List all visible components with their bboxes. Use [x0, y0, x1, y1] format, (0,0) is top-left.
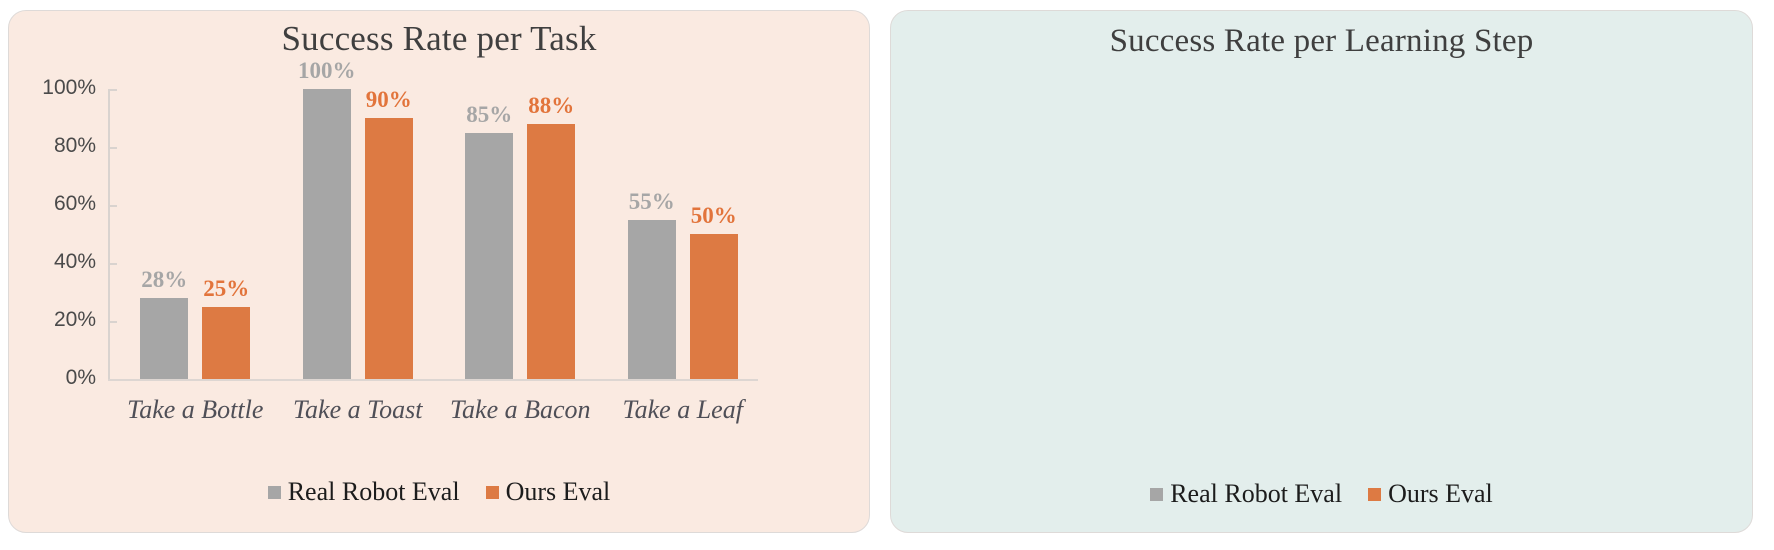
bar[interactable] [303, 89, 351, 379]
legend-right: Real Robot Eval Ours Eval [891, 479, 1752, 509]
y-axis-tick-mark [108, 263, 117, 265]
y-axis-tick-mark [108, 205, 117, 207]
bar[interactable] [465, 133, 513, 380]
legend-label: Ours Eval [1388, 479, 1493, 509]
legend-swatch-icon [1150, 488, 1163, 501]
y-axis-tick-mark [108, 89, 117, 91]
x-axis-category-label: Take a Bacon [439, 395, 602, 425]
legend-item-real-robot-eval[interactable]: Real Robot Eval [1150, 479, 1342, 509]
x-axis-baseline [108, 379, 758, 381]
y-axis-tick-mark [108, 147, 117, 149]
legend-swatch-icon [268, 486, 281, 499]
chart-title-left: Success Rate per Task [9, 19, 869, 59]
legend-item-ours-eval[interactable]: Ours Eval [486, 477, 611, 507]
y-axis-tick-label: 60% [18, 192, 96, 216]
bar-value-label: 25% [186, 276, 266, 302]
y-axis-tick-mark [108, 321, 117, 323]
bar[interactable] [690, 234, 738, 379]
plot-area-left: 100%80%60%40%20%0%28%25%Take a Bottle100… [108, 89, 758, 379]
bar[interactable] [527, 124, 575, 379]
bar-value-label: 50% [674, 203, 754, 229]
chart-panel-success-rate-per-learning-step: Success Rate per Learning Step 100%80%60… [890, 10, 1753, 533]
y-axis-tick-label: 80% [18, 134, 96, 158]
bar[interactable] [365, 118, 413, 379]
chart-panel-success-rate-per-task: Success Rate per Task 100%80%60%40%20%0%… [8, 10, 870, 533]
legend-item-ours-eval[interactable]: Ours Eval [1368, 479, 1493, 509]
y-axis-tick-label: 20% [18, 308, 96, 332]
bar[interactable] [628, 220, 676, 380]
legend-left: Real Robot Eval Ours Eval [9, 477, 869, 507]
y-axis-tick-label: 100% [18, 76, 96, 100]
y-axis-tick-label: 0% [18, 366, 96, 390]
x-axis-category-label: Take a Toast [277, 395, 440, 425]
legend-swatch-icon [1368, 488, 1381, 501]
x-axis-category-label: Take a Bottle [114, 395, 277, 425]
legend-label: Real Robot Eval [1170, 479, 1342, 509]
legend-label: Ours Eval [506, 477, 611, 507]
bar-value-label: 88% [511, 93, 591, 119]
y-axis-line [108, 89, 110, 379]
legend-item-real-robot-eval[interactable]: Real Robot Eval [268, 477, 460, 507]
bar-value-label: 90% [349, 87, 429, 113]
bar[interactable] [140, 298, 188, 379]
chart-title-right: Success Rate per Learning Step [891, 23, 1752, 60]
bar-value-label: 100% [287, 58, 367, 84]
bar[interactable] [202, 307, 250, 380]
legend-label: Real Robot Eval [288, 477, 460, 507]
x-axis-category-label: Take a Leaf [602, 395, 765, 425]
y-axis-tick-label: 40% [18, 250, 96, 274]
legend-swatch-icon [486, 486, 499, 499]
